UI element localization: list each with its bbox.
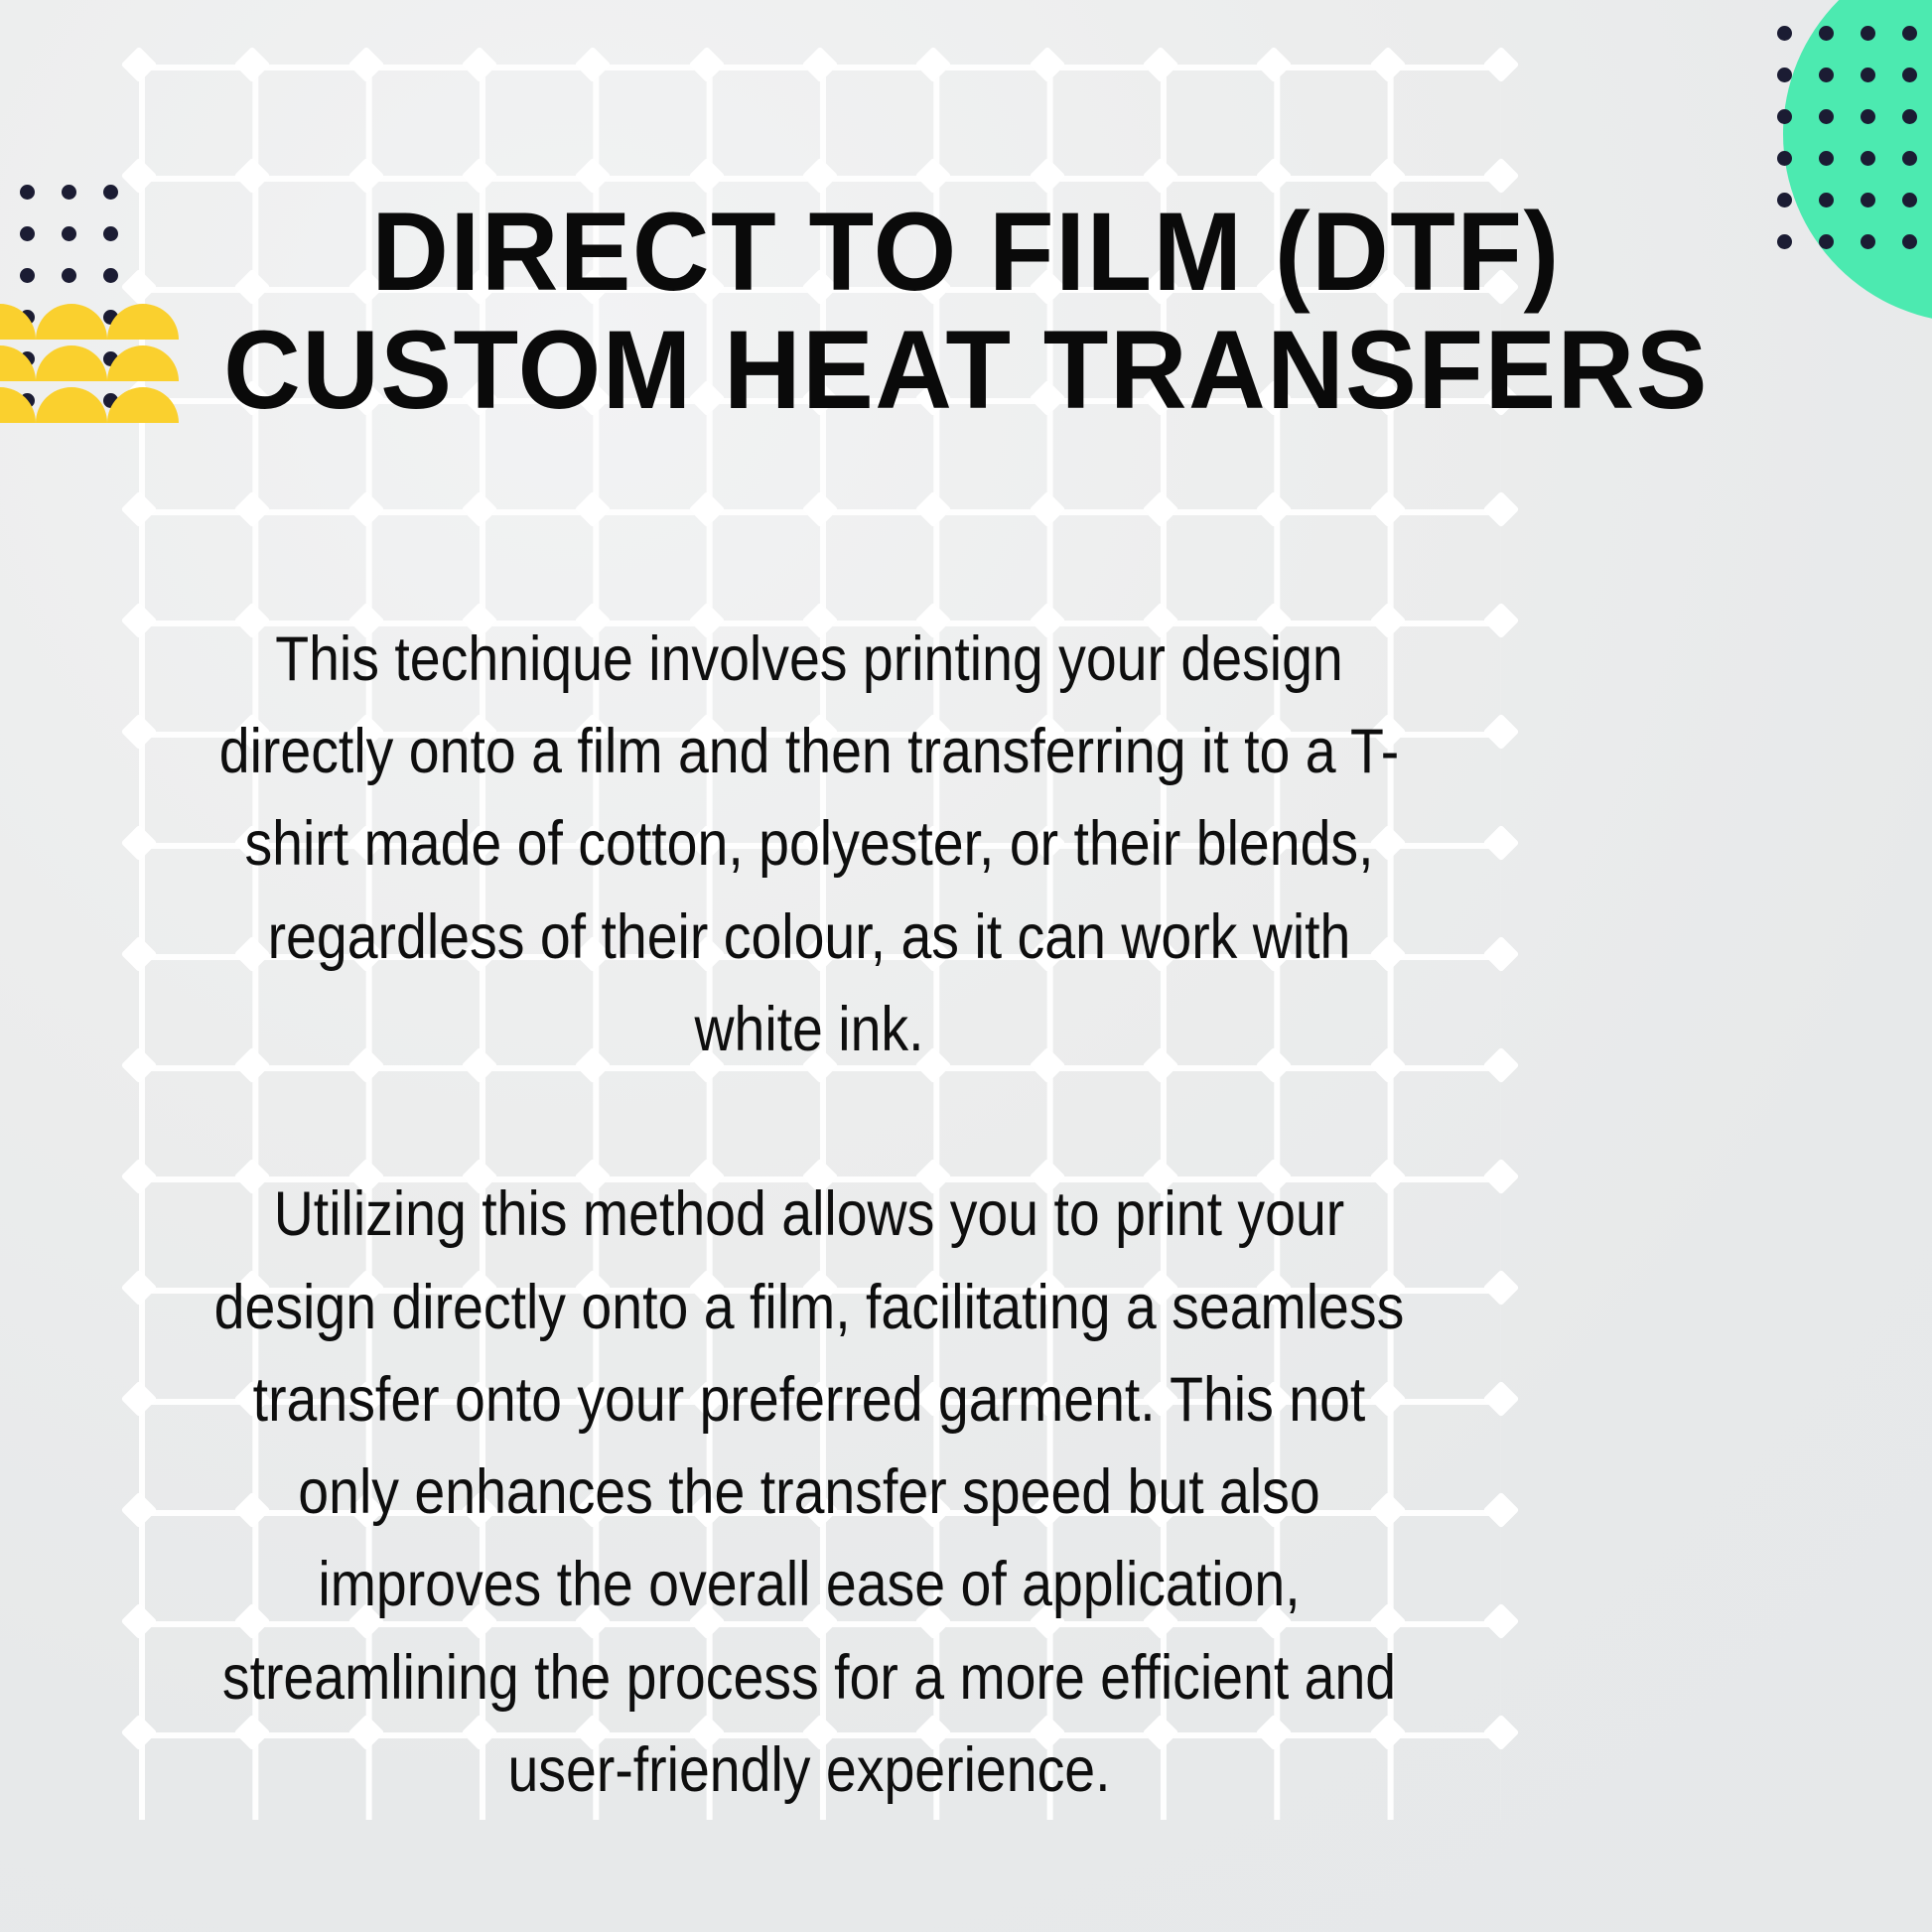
body-paragraph-2: Utilizing this method allows you to prin… (202, 1169, 1416, 1817)
body-paragraph-1: This technique involves printing your de… (202, 614, 1416, 1076)
poster-content: DIRECT TO FILM (DTF) CUSTOM HEAT TRANSFE… (0, 0, 1932, 1932)
page-title: DIRECT TO FILM (DTF) CUSTOM HEAT TRANSFE… (182, 194, 1750, 429)
page-title-line-2: CUSTOM HEAT TRANSFERS (182, 312, 1750, 430)
body-copy: This technique involves printing your de… (202, 614, 1416, 1817)
poster-canvas: DIRECT TO FILM (DTF) CUSTOM HEAT TRANSFE… (0, 0, 1932, 1932)
page-title-line-1: DIRECT TO FILM (DTF) (182, 194, 1750, 312)
